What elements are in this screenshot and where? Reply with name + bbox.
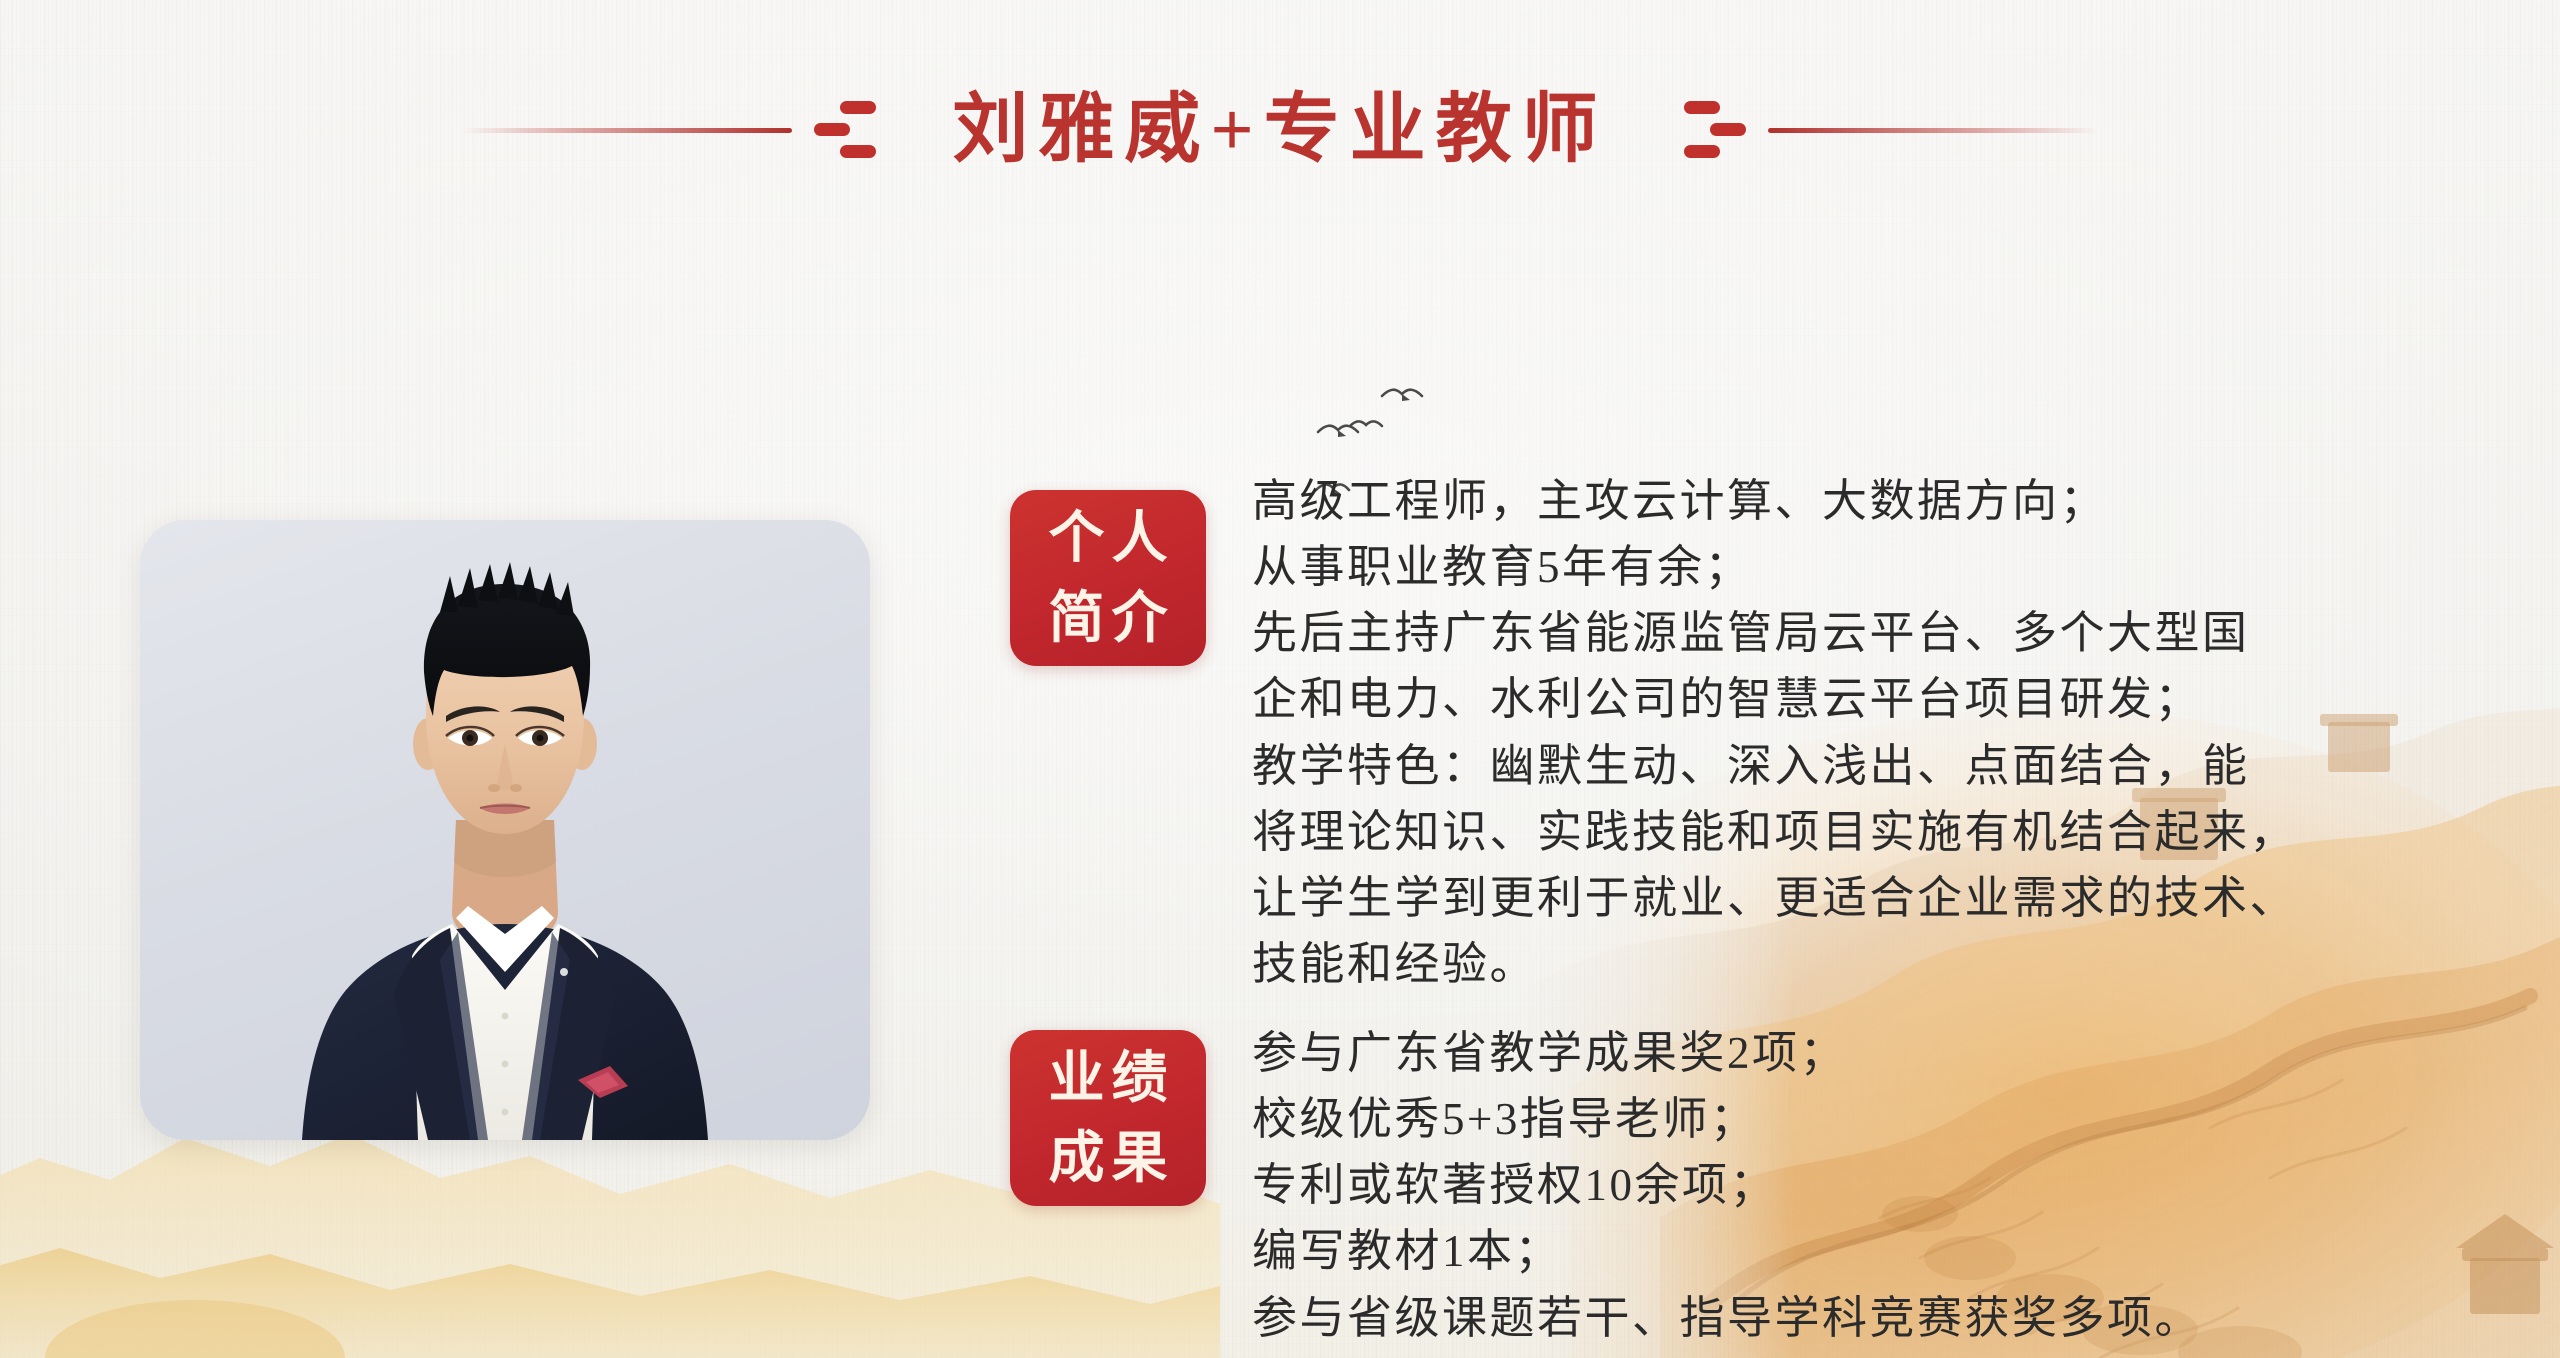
- profile-body-text: 高级工程师，主攻云计算、大数据方向； 从事职业教育5年有余； 先后主持广东省能源…: [1252, 468, 2297, 997]
- badge-label-line1: 业绩: [1042, 1038, 1175, 1118]
- badge-achievements: 业绩 成果: [1010, 1030, 1206, 1206]
- ornament-line-right: [1768, 128, 2098, 133]
- slide-header: 刘雅威+专业教师: [0, 70, 2560, 190]
- dash-icon: [1684, 145, 1720, 158]
- ornament-line-left: [462, 128, 792, 133]
- badge-label-line1: 个人: [1042, 498, 1175, 578]
- slide-canvas: 刘雅威+专业教师: [0, 0, 2560, 1358]
- portrait-illustration: [140, 520, 870, 1140]
- dash-icon: [840, 145, 876, 158]
- badge-personal-profile: 个人 简介: [1010, 490, 1206, 666]
- teacher-portrait-photo: [140, 520, 870, 1140]
- page-title: 刘雅威+专业教师: [898, 92, 1661, 168]
- header-ornament-left: [462, 100, 898, 160]
- dash-icon: [840, 101, 876, 114]
- section-achievements: 业绩 成果 参与广东省教学成果奖2项； 校级优秀5+3指导老师； 专利或软著授权…: [1010, 1030, 2202, 1351]
- header-ornament-right: [1662, 100, 2098, 160]
- dash-icon: [814, 123, 850, 136]
- badge-label-line2: 成果: [1042, 1118, 1175, 1198]
- dash-icon: [1684, 101, 1720, 114]
- achievements-body-text: 参与广东省教学成果奖2项； 校级优秀5+3指导老师； 专利或软著授权10余项； …: [1252, 1020, 2202, 1351]
- dash-icon: [1710, 123, 1746, 136]
- ornament-dashes-right: [1676, 101, 1754, 159]
- ornament-dashes-left: [806, 101, 884, 159]
- section-personal-profile: 个人 简介 高级工程师，主攻云计算、大数据方向； 从事职业教育5年有余； 先后主…: [1010, 490, 2297, 997]
- badge-label-line2: 简介: [1042, 578, 1175, 658]
